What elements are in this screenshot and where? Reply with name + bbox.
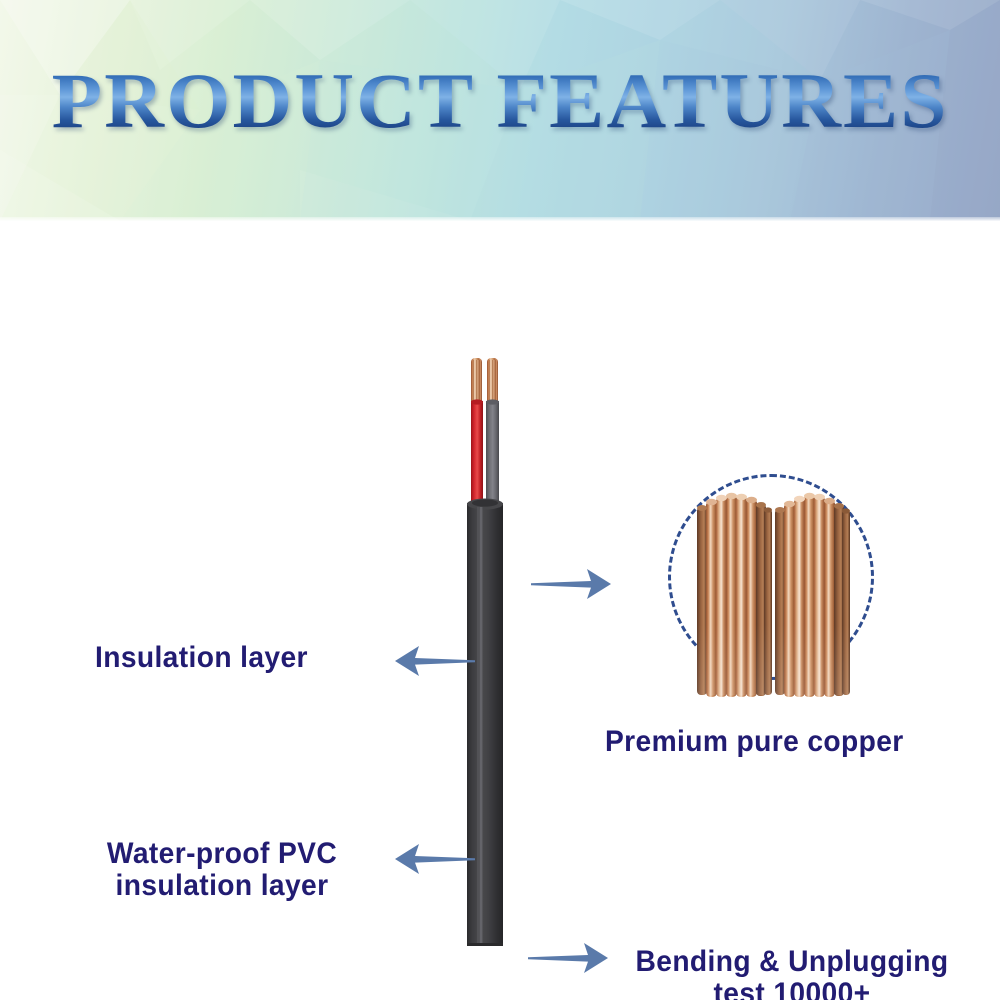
arrow-right-icon-bending (524, 937, 610, 979)
content-area: Insulation layer Water-proof PVC insulat… (0, 221, 1000, 1000)
callout-label-bending-unplugging-test: Bending & Unplugging test 10000+ (623, 946, 961, 1000)
low-poly-texture (0, 0, 1000, 221)
copper-detail-circle (668, 474, 874, 680)
callout-label-insulation-layer: Insulation layer (95, 642, 308, 674)
arrow-left-icon-insulation (393, 640, 477, 682)
cable-inner-wires (471, 399, 499, 507)
callout-label-waterproof-pvc: Water-proof PVC insulation layer (96, 838, 348, 902)
callout-label-premium-pure-copper: Premium pure copper (605, 726, 904, 758)
arrow-left-icon-pvc (393, 838, 477, 880)
arrow-right-icon-copper (527, 563, 613, 605)
header-banner: PRODUCT FEATURES (0, 0, 1000, 221)
product-features-infographic: PRODUCT FEATURES (0, 0, 1000, 1000)
